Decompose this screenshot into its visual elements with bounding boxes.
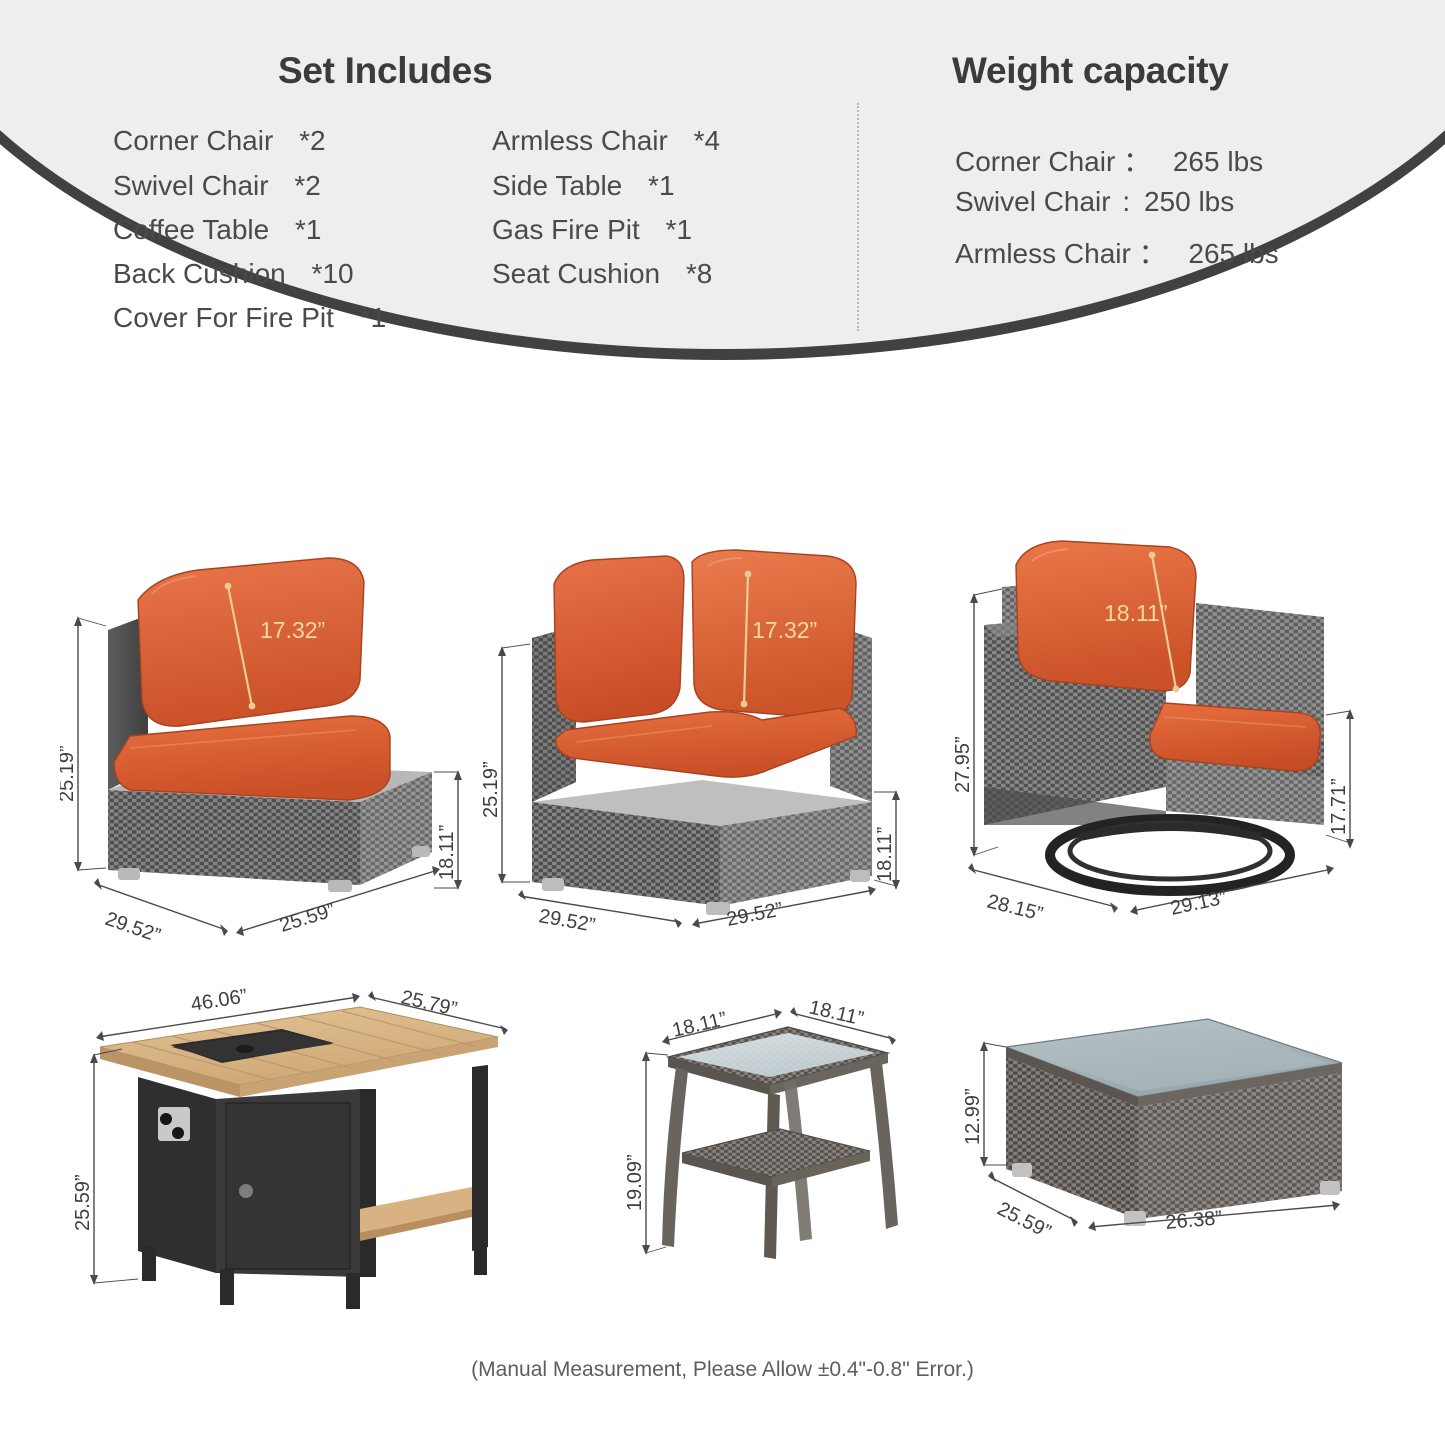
set-item-qty: *1 — [360, 302, 386, 333]
wc-label: Swivel Chair — [955, 186, 1111, 217]
list-item: Swivel Chair : 250 lbs — [955, 186, 1234, 218]
wc-separator: ： — [1123, 146, 1151, 177]
weight-capacity-title: Weight capacity — [952, 50, 1229, 92]
set-includes-title: Set Includes — [278, 50, 492, 92]
firepit-width-dim: 46.06” — [189, 985, 248, 1016]
set-item-label: Seat Cushion — [492, 258, 660, 289]
armless-seat-dim: 18.11” — [436, 825, 458, 880]
set-item-label: Swivel Chair — [113, 170, 269, 201]
set-item-label: Corner Chair — [113, 125, 273, 156]
side-table-diagram: 18.11” 18.11” 19.09” — [620, 985, 960, 1325]
set-item-label: Gas Fire Pit — [492, 214, 640, 245]
list-item: Side Table *1 — [492, 170, 675, 202]
armless-depth-dim: 29.52” — [102, 908, 163, 947]
swivel-chair-diagram: 18.11” 27.95” 17.71” 28.15” 29.1 — [920, 525, 1380, 950]
sidetable-height-dim: 19.09” — [624, 1154, 646, 1211]
list-item: Seat Cushion *8 — [492, 258, 712, 290]
swivel-height-dim: 27.95” — [952, 736, 974, 793]
firepit-depth-dim: 25.79” — [399, 986, 459, 1020]
list-item: Armless Chair *4 — [492, 125, 720, 157]
set-item-qty: *1 — [666, 214, 692, 245]
wc-separator: ： — [1139, 238, 1167, 269]
sidetable-width-dim: 18.11” — [807, 996, 866, 1030]
set-item-label: Armless Chair — [492, 125, 668, 156]
armless-width-dim: 25.59” — [277, 899, 338, 937]
armless-cushion-dim: 17.32” — [260, 617, 325, 643]
set-item-qty: *4 — [694, 125, 720, 156]
set-item-label: Cover For Fire Pit — [113, 302, 334, 333]
list-item: Cover For Fire Pit *1 — [113, 302, 386, 334]
wc-label: Armless Chair — [955, 238, 1131, 269]
corner-depth-dim: 29.52” — [537, 905, 597, 937]
list-item: Swivel Chair *2 — [113, 170, 321, 202]
swivel-cushion-dim: 18.11” — [1104, 600, 1168, 626]
wc-value: 265 lbs — [1188, 238, 1278, 269]
set-item-qty: *2 — [294, 170, 320, 201]
corner-chair-diagram: 17.32” 25.19” 18.11” 29.52” 29.5 — [480, 540, 920, 950]
set-item-label: Coffee Table — [113, 214, 269, 245]
coffeetable-height-dim: 12.99” — [962, 1088, 984, 1145]
wc-label: Corner Chair — [955, 146, 1115, 177]
wc-value: 265 lbs — [1173, 146, 1263, 177]
list-item: Corner Chair ： 265 lbs — [955, 140, 1263, 180]
coffee-table-diagram: 12.99” 25.59” 26.38” — [950, 1005, 1380, 1305]
corner-height-dim: 25.19” — [480, 761, 502, 818]
product-coffee-table: 12.99” 25.59” 26.38” — [950, 1005, 1380, 1305]
product-swivel-chair: 18.11” 27.95” 17.71” 28.15” 29.1 — [920, 525, 1380, 950]
set-item-qty: *1 — [295, 214, 321, 245]
product-gas-fire-pit: 46.06” 25.79” 25.59” — [60, 985, 520, 1335]
set-item-label: Back Cushion — [113, 258, 286, 289]
product-side-table: 18.11” 18.11” 19.09” — [620, 985, 960, 1325]
set-item-label: Side Table — [492, 170, 622, 201]
product-armless-chair: 17.32” 25.19” 18.11” 29.52” 25.5 — [60, 540, 480, 950]
measurement-disclaimer: (Manual Measurement, Please Allow ±0.4"-… — [0, 1358, 1445, 1382]
set-item-qty: *8 — [686, 258, 712, 289]
swivel-seat-dim: 17.71” — [1328, 778, 1350, 835]
sidetable-depth-dim: 18.11” — [670, 1008, 729, 1042]
set-item-qty: *2 — [299, 125, 325, 156]
header-divider — [857, 103, 859, 331]
corner-cushion-dim: 17.32” — [752, 617, 817, 643]
armless-height-dim: 25.19” — [60, 745, 78, 802]
coffeetable-width-dim: 26.38” — [1165, 1207, 1223, 1234]
corner-width-dim: 29.52” — [725, 898, 785, 930]
firepit-height-dim: 25.59” — [72, 1174, 94, 1231]
corner-seat-dim: 18.11” — [874, 827, 896, 882]
armless-chair-diagram: 17.32” 25.19” 18.11” 29.52” 25.5 — [60, 540, 480, 950]
product-spec-page: Set Includes Weight capacity Corner Chai… — [0, 0, 1445, 1445]
product-corner-chair: 17.32” 25.19” 18.11” 29.52” 29.5 — [480, 540, 920, 950]
header-content: Set Includes Weight capacity Corner Chai… — [0, 0, 1445, 400]
list-item: Corner Chair *2 — [113, 125, 326, 157]
gas-fire-pit-diagram: 46.06” 25.79” 25.59” — [60, 985, 520, 1335]
list-item: Armless Chair ： 265 lbs — [955, 232, 1279, 272]
list-item: Gas Fire Pit *1 — [492, 214, 692, 246]
swivel-depth-dim: 28.15” — [985, 891, 1045, 926]
header-panel: Set Includes Weight capacity Corner Chai… — [0, 0, 1445, 400]
wc-separator: : — [1122, 186, 1130, 217]
set-item-qty: *1 — [648, 170, 674, 201]
set-item-qty: *10 — [312, 258, 354, 289]
list-item: Coffee Table *1 — [113, 214, 321, 246]
list-item: Back Cushion *10 — [113, 258, 354, 290]
wc-value: 250 lbs — [1144, 186, 1234, 217]
